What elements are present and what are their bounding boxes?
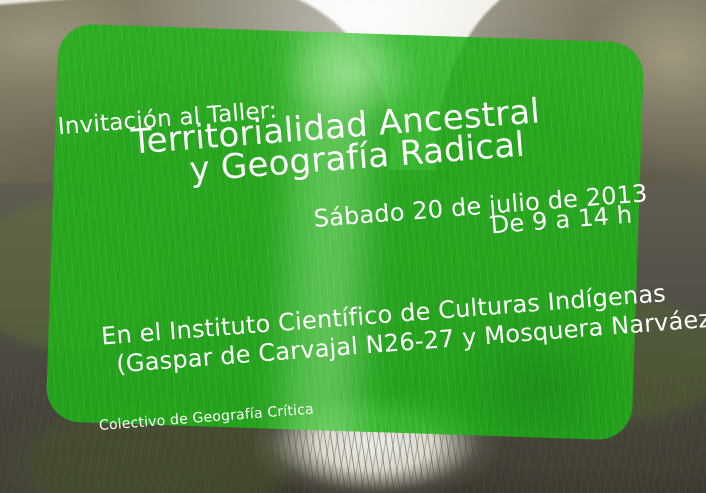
- invitation-poster: Invitación al Taller: Territorialidad An…: [0, 0, 706, 493]
